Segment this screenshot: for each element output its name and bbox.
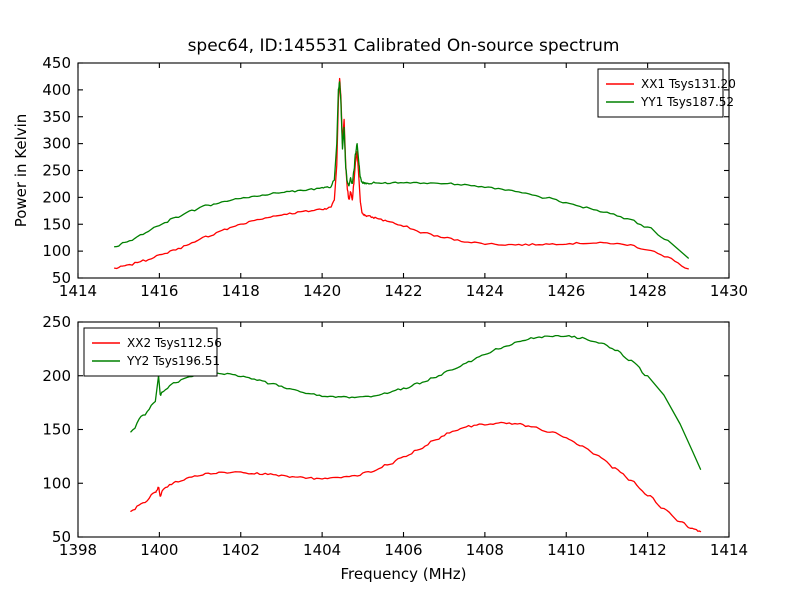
x-tick-label: 1422	[384, 282, 422, 300]
legend-label: YY2 Tsys196.51	[126, 354, 220, 368]
x-tick-label: 1410	[547, 541, 585, 559]
x-tick-label: 1404	[303, 541, 341, 559]
x-tick-label: 1430	[710, 282, 748, 300]
x-tick-label: 1408	[466, 541, 504, 559]
x-tick-label: 1418	[222, 282, 260, 300]
y-tick-label: 150	[42, 421, 71, 439]
x-tick-label: 1420	[303, 282, 341, 300]
plot-title: spec64, ID:145531 Calibrated On-source s…	[188, 36, 620, 56]
y-tick-label: 450	[42, 54, 71, 72]
legend-bottom-panel[interactable]: XX2 Tsys112.56YY2 Tsys196.51	[84, 328, 222, 376]
x-axis-label: Frequency (MHz)	[340, 565, 466, 583]
x-tick-label: 1416	[140, 282, 178, 300]
y-tick-label: 300	[42, 135, 71, 153]
trace-xx2	[131, 422, 701, 531]
legend-label: XX2 Tsys112.56	[127, 336, 222, 350]
y-tick-label: 50	[52, 528, 71, 546]
x-tick-label: 1414	[710, 541, 748, 559]
x-tick-label: 1428	[629, 282, 667, 300]
x-tick-label: 1424	[466, 282, 504, 300]
x-tick-label: 1412	[629, 541, 667, 559]
y-tick-label: 400	[42, 81, 71, 99]
spectrum-figure: 1414141614181420142214241426142814305010…	[0, 0, 800, 600]
legend-label: YY1 Tsys187.52	[640, 95, 734, 109]
y-tick-label: 50	[52, 269, 71, 287]
x-tick-label: 1406	[384, 541, 422, 559]
y-tick-label: 250	[42, 313, 71, 331]
x-tick-label: 1402	[222, 541, 260, 559]
legend-top-panel[interactable]: XX1 Tsys131.20YY1 Tsys187.52	[598, 69, 736, 117]
y-tick-label: 100	[42, 242, 71, 260]
y-tick-label: 150	[42, 215, 71, 233]
spectrum-plot-canvas: 1414141614181420142214241426142814305010…	[0, 0, 800, 600]
y-tick-label: 100	[42, 474, 71, 492]
x-tick-label: 1426	[547, 282, 585, 300]
x-tick-label: 1400	[140, 541, 178, 559]
y-tick-label: 200	[42, 188, 71, 206]
y-tick-label: 250	[42, 162, 71, 180]
y-tick-label: 200	[42, 367, 71, 385]
legend-label: XX1 Tsys131.20	[641, 77, 736, 91]
y-axis-label: Power in Kelvin	[12, 114, 30, 228]
y-tick-label: 350	[42, 108, 71, 126]
